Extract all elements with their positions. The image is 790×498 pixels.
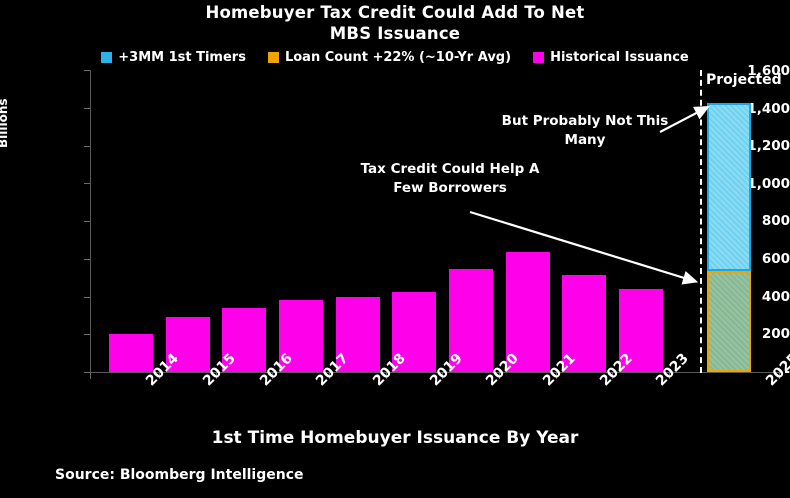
chart-container: Homebuyer Tax Credit Could Add To Net MB… xyxy=(0,0,790,498)
legend-swatch-icon-historical xyxy=(533,52,544,63)
y-axis-title: Billions xyxy=(0,68,10,148)
annotation-tax-credit: Tax Credit Could Help A Few Borrowers xyxy=(360,160,540,198)
title-line-2: MBS Issuance xyxy=(0,23,790,44)
legend-item-loan-count[interactable]: Loan Count +22% (~10-Yr Avg) xyxy=(268,50,511,65)
source-text: Source: Bloomberg Intelligence xyxy=(55,467,304,483)
legend-item-first-timers[interactable]: +3MM 1st Timers xyxy=(101,50,246,65)
title-line-1: Homebuyer Tax Credit Could Add To Net xyxy=(205,3,584,22)
legend-item-historical[interactable]: Historical Issuance xyxy=(533,50,689,65)
x-axis-title: 1st Time Homebuyer Issuance By Year xyxy=(0,428,790,448)
annotation-probably-not: But Probably Not This Many xyxy=(500,112,670,150)
bar-2025-first-timers[interactable] xyxy=(707,103,751,271)
legend-swatch-icon-first-timers xyxy=(101,52,112,63)
bar-2014[interactable] xyxy=(109,334,153,372)
plot-area xyxy=(90,70,780,372)
bar-2025-loan-count[interactable] xyxy=(707,271,751,372)
x-tick-mark xyxy=(90,373,91,379)
legend-label-loan-count: Loan Count +22% (~10-Yr Avg) xyxy=(285,50,511,65)
projected-label: Projected xyxy=(706,72,782,88)
legend-swatch-icon-loan-count xyxy=(268,52,279,63)
legend-label-historical: Historical Issuance xyxy=(550,50,689,65)
page-title: Homebuyer Tax Credit Could Add To Net MB… xyxy=(0,2,790,44)
projected-divider xyxy=(700,70,702,373)
chart-legend: +3MM 1st Timers Loan Count +22% (~10-Yr … xyxy=(0,48,790,66)
legend-label-first-timers: +3MM 1st Timers xyxy=(118,50,246,65)
